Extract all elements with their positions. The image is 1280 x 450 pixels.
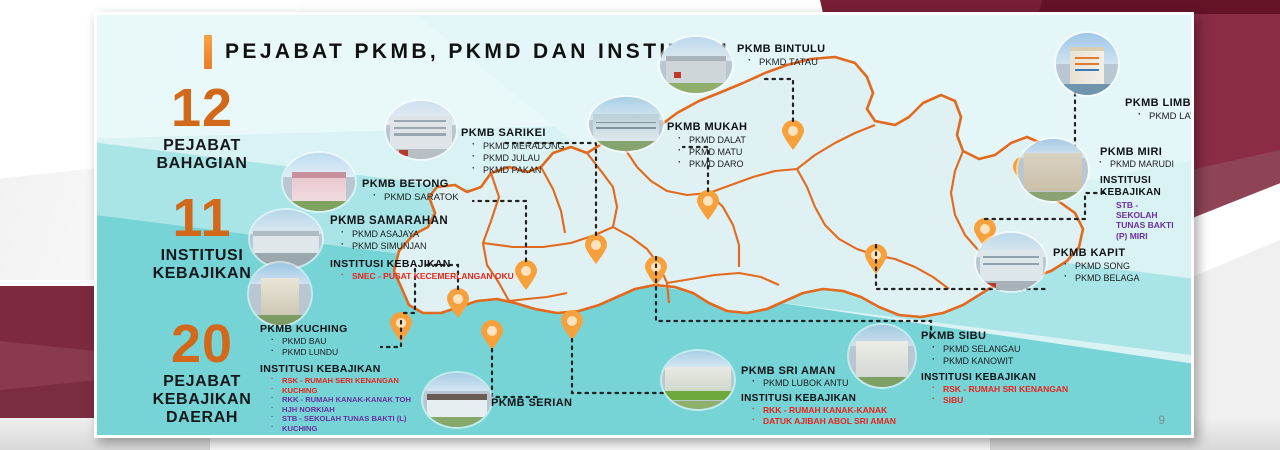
institusi-item: RKK - RUMAH KANAK-KANAK [763,405,896,416]
label-item-list: PKMD SARATOK [384,192,459,203]
label-item-list: PKMD ASAJAYA PKMD SIMUNJAN [352,228,514,252]
list-item: PKMD PAKAN [483,164,565,176]
list-item: PKMD BAU [282,336,411,347]
institusi-list: RKK - RUMAH KANAK-KANAK DATUK AJIBAH ABO… [763,405,896,426]
photo-miri [1018,139,1088,201]
photo-sarikei [386,101,456,159]
label-title: PKMB BETONG [362,178,459,190]
label-title: PKMB SIBU [921,330,1068,342]
photo-limbang [1056,33,1118,95]
institusi-item: RSK - RUMAH SRI KENANGAN [943,384,1068,395]
institusi-heading: INSTITUSI KEBAJIKAN [330,258,514,270]
header-accent-bar [204,35,212,69]
label-sri-aman: PKMB SRI AMAN PKMD LUBOK ANTU INSTITUSI … [741,365,896,426]
label-sibu: PKMB SIBU PKMD SELANGAU PKMD KANOWIT INS… [921,330,1068,406]
institusi-item-cont: KUCHING [282,386,411,396]
list-item: PKMD TATAU [759,57,826,68]
map-pin-serian[interactable] [481,320,503,350]
institusi-list: RSK - RUMAH SRI KENANGAN SIBU [943,384,1068,405]
label-item-list: PKMD SELANGAU PKMD KANOWIT [943,343,1068,367]
list-item: PKMD ASAJAYA [352,228,514,240]
list-item: PKMD BELAGA [1075,272,1140,284]
institusi-list: SNEC - PUSAT KECEMERLANGAN OKU [352,271,514,281]
label-item-list: PKMD LUBOK ANTU [763,378,896,388]
slide-card: PEJABAT PKMB, PKMD DAN INSTITUSI 12 PEJA… [94,12,1194,438]
label-title: PKMB LIMBANG [1125,97,1194,109]
label-title: PKMB MIRI [1100,146,1174,158]
institusi-item: (P) MIRI [1116,231,1174,241]
institusi-item: RKK - RUMAH KANAK-KANAK TOH [282,395,411,405]
photo-serian [423,373,491,427]
stat-label-line2: BAHAGIAN [117,155,287,173]
label-kuching: PKMB KUCHING PKMD BAU PKMD LUNDU INSTITU… [260,323,411,438]
institusi-item: TUNAS BAKTI [1116,220,1174,230]
stat-label: PEJABAT BAHAGIAN [117,137,287,173]
list-item: PKMD MERADONG [483,140,565,152]
list-item: PKMD SELANGAU [943,343,1068,355]
institusi-heading-line1: INSTITUSI [1100,175,1174,187]
label-kapit: PKMB KAPIT PKMD SONG PKMD BELAGA [1053,247,1140,284]
label-mukah: PKMB MUKAH PKMD DALAT PKMD MATU PKMD DAR… [667,121,747,170]
list-item: PKMD MARUDI [1110,159,1174,169]
page-number: 9 [1158,413,1165,427]
label-title: PKMB BINTULU [737,43,826,55]
map-pin-samarahan[interactable] [447,288,469,318]
list-item: PKMD DARO [689,158,747,170]
label-title: PKMB SERIAN [491,397,572,409]
list-item: PKMD DALAT [689,134,747,146]
list-item: PKMD KANOWIT [943,355,1068,367]
institusi-heading: INSTITUSI KEBAJIKAN [741,393,896,404]
institusi-heading: INSTITUSI KEBAJIKAN [260,363,411,375]
list-item: PKMD LAWAS [1149,111,1194,122]
label-limbang: PKMB LIMBANG PKMD LAWAS [1125,97,1194,122]
stat-number: 12 [117,83,287,134]
label-samarahan: PKMB SAMARAHAN PKMD ASAJAYA PKMD SIMUNJA… [330,215,514,281]
label-title: PKMB SARIKEI [461,127,565,139]
label-miri: PKMB MIRI PKMD MARUDI INSTITUSI KEBAJIKA… [1100,146,1174,241]
stat-pejabat-bahagian: 12 PEJABAT BAHAGIAN [117,83,287,173]
label-title: PKMB KUCHING [260,323,411,335]
institusi-item-cont: DATUK AJIBAH ABOL SRI AMAN [763,416,896,427]
institusi-item-cont: SIBU [943,395,1068,406]
list-item: PKMD LUBOK ANTU [763,378,896,388]
connector-serian [492,349,539,397]
photo-mukah [589,97,663,151]
institusi-item: SNEC - PUSAT KECEMERLANGAN OKU [352,271,514,281]
institusi-list: STB - SEKOLAH TUNAS BAKTI (P) MIRI [1116,200,1174,241]
list-item: PKMD MATU [689,146,747,158]
photo-betong [283,153,355,211]
label-bintulu: PKMB BINTULU PKMD TATAU [737,43,826,68]
institusi-item: STB - SEKOLAH TUNAS BAKTI (L) [282,414,411,424]
list-item: PKMD LUNDU [282,347,411,358]
label-title: PKMB SRI AMAN [741,365,896,377]
institusi-item: RSK - RUMAH SERI KENANGAN [282,376,411,386]
label-item-list: PKMD LAWAS [1149,111,1194,122]
label-item-list: PKMD TATAU [759,57,826,68]
map-pin-sri-aman[interactable] [561,310,583,340]
label-serian: PKMB SERIAN [491,397,572,409]
label-item-list: PKMD DALAT PKMD MATU PKMD DARO [689,134,747,170]
photo-kuching [249,263,311,325]
photo-sri-aman [662,351,734,409]
list-item: PKMD SONG [1075,260,1140,272]
institusi-heading: INSTITUSI KEBAJIKAN [921,372,1068,383]
institusi-item: STB - [1116,200,1174,210]
photo-kapit [976,233,1046,291]
photo-samarahan [250,210,322,268]
label-item-list: PKMD MERADONG PKMD JULAU PKMD PAKAN [483,140,565,176]
institusi-heading: INSTITUSI KEBAJIKAN [1100,175,1174,198]
stat-label-line1: PEJABAT [117,137,287,155]
label-betong: PKMB BETONG PKMD SARATOK [362,178,459,203]
institusi-item: SEKOLAH [1116,210,1174,220]
label-title: PKMB SAMARAHAN [330,215,514,227]
list-item: PKMD JULAU [483,152,565,164]
institusi-heading-line2: KEBAJIKAN [1100,187,1174,199]
list-item: PKMD SIMUNJAN [352,240,514,252]
institusi-item: TSP - TAMAN SERI PUTERI [282,433,411,438]
institusi-item-cont: HJH NORKIAH [282,405,411,415]
institusi-list: RSK - RUMAH SERI KENANGAN KUCHING RKK - … [282,376,411,438]
label-item-list: PKMD SONG PKMD BELAGA [1075,260,1140,284]
list-item: PKMD SARATOK [384,192,459,203]
label-sarikei: PKMB SARIKEI PKMD MERADONG PKMD JULAU PK… [461,127,565,176]
label-item-list: PKMD BAU PKMD LUNDU [282,336,411,358]
label-item-list: PKMD MARUDI [1110,159,1174,169]
photo-bintulu [660,37,732,93]
institusi-item-cont: KUCHING [282,424,411,434]
